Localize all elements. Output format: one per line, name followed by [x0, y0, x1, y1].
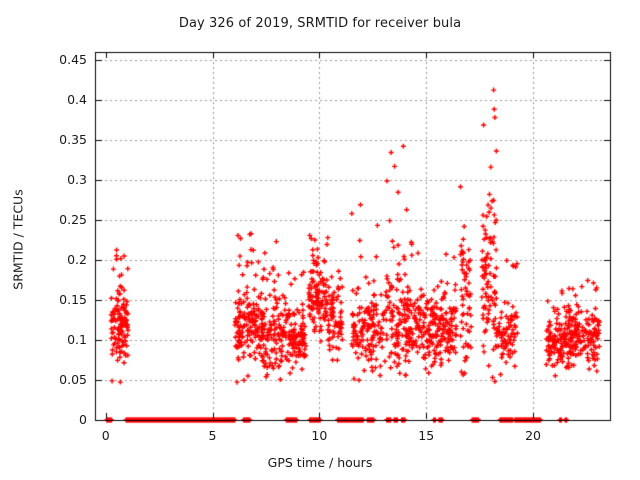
x-tick-label: 15 — [396, 428, 456, 443]
x-tick-label: 20 — [503, 428, 563, 443]
y-tick-label: 0 — [3, 412, 87, 427]
y-tick-label: 0.1 — [3, 332, 87, 347]
y-tick-label: 0.4 — [3, 92, 87, 107]
y-tick-label: 0.15 — [3, 292, 87, 307]
y-tick-label: 0.25 — [3, 212, 87, 227]
srmtid-scatter-plot: Day 326 of 2019, SRMTID for receiver bul… — [0, 0, 640, 480]
y-tick-label: 0.05 — [3, 372, 87, 387]
y-tick-label: 0.2 — [3, 252, 87, 267]
y-tick-label: 0.35 — [3, 132, 87, 147]
x-tick-label: 10 — [289, 428, 349, 443]
x-tick-label: 5 — [183, 428, 243, 443]
y-tick-label: 0.3 — [3, 172, 87, 187]
plot-canvas — [0, 0, 640, 480]
x-axis-label: GPS time / hours — [0, 455, 640, 470]
x-tick-label: 0 — [76, 428, 136, 443]
y-tick-label: 0.45 — [3, 52, 87, 67]
